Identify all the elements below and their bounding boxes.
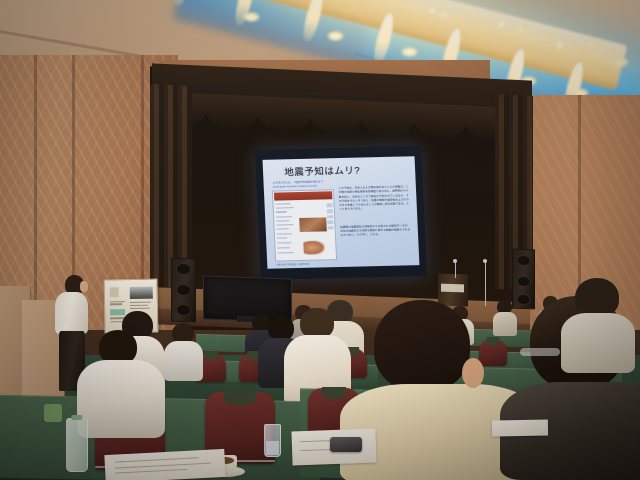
loudspeaker-stack-left — [171, 258, 196, 323]
projection-screen[interactable]: 地震予知はムリ? 2013年1月15日 — 地震予知連絡会資料より Earthq… — [255, 146, 427, 280]
presenter-face — [80, 281, 88, 292]
web-article-thumbnail — [299, 218, 326, 233]
downlight-icon — [327, 31, 344, 41]
handout-papers[interactable] — [104, 449, 225, 480]
eyeglasses-icon — [520, 348, 560, 356]
poster-photo — [130, 287, 153, 299]
drinking-glass[interactable] — [264, 424, 281, 457]
web-header-bar — [274, 191, 332, 200]
slide-subtitle: 2013年1月15日 — 地震予知連絡会資料より Earthquake Pred… — [273, 180, 324, 189]
poster-highlight-bar — [110, 309, 126, 315]
microphone-head-icon — [453, 259, 457, 263]
embedded-web-screenshot — [271, 189, 337, 262]
downlight-icon — [436, 9, 453, 19]
downlight-icon — [401, 47, 418, 57]
slide-body-paragraph-1: この予知は、日本人および関係者のほとんどの認識は、この種の地震の発生確率を高精度… — [338, 186, 409, 212]
chair — [479, 338, 507, 366]
slide-title: 地震予知はムリ? — [284, 163, 360, 179]
presenter-shirt — [55, 292, 88, 334]
downlight-icon — [243, 12, 260, 22]
microphone-stand — [485, 262, 486, 306]
downlight-icon — [612, 57, 629, 67]
slide-body-paragraph-2: 地震国の地震国及び地域別から公表された観測データが、日本の地震学の予測的な識別に… — [340, 224, 410, 238]
slide-footer-note: 出典:地震予知連絡会 / 気象庁資料 — [276, 262, 309, 267]
web-hazard-map — [303, 240, 326, 254]
downlight-icon — [583, 39, 600, 49]
poster-image-block — [110, 287, 118, 297]
podium-papers — [441, 284, 464, 293]
ear — [462, 358, 484, 388]
handout-papers[interactable] — [492, 420, 548, 437]
loudspeaker-stack-right — [512, 249, 535, 310]
podium-microphone — [455, 262, 456, 278]
water-bottle[interactable] — [66, 418, 88, 472]
water — [266, 441, 279, 455]
mobile-device[interactable] — [330, 437, 362, 452]
conference-hall-photo: 地震予知はムリ? 2013年1月15日 — 地震予知連絡会資料より Earthq… — [0, 0, 640, 480]
green-item — [44, 404, 62, 422]
presentation-slide: 地震予知はムリ? 2013年1月15日 — 地震予知連絡会資料より Earthq… — [263, 156, 420, 269]
downlight-icon — [512, 24, 529, 34]
microphone-head-icon — [483, 259, 487, 263]
